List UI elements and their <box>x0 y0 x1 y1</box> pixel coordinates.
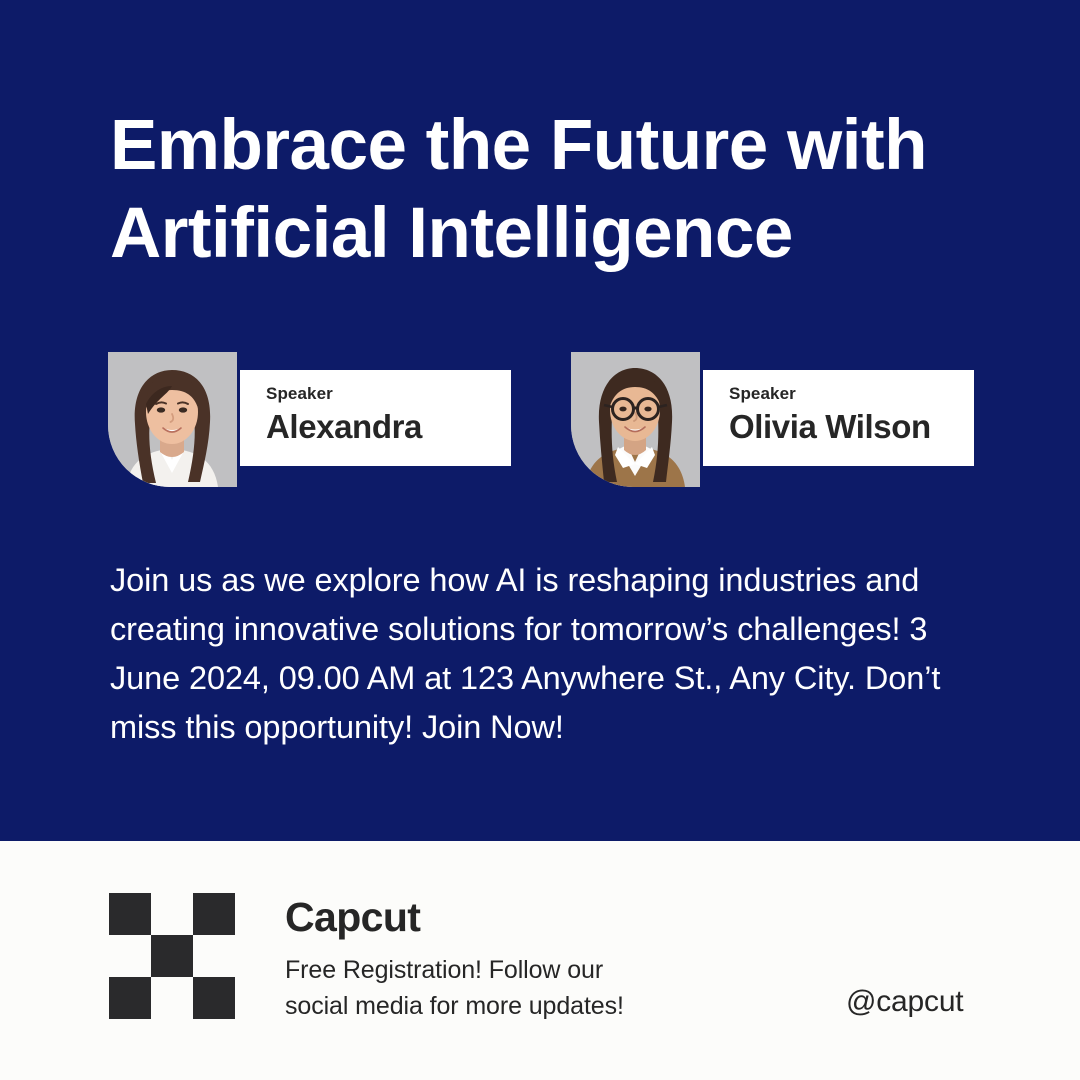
logo-cell <box>151 935 193 977</box>
event-poster: Embrace the Future with Artificial Intel… <box>0 0 1080 1080</box>
logo-cell <box>109 893 151 935</box>
brand-block: Capcut Free Registration! Follow our soc… <box>285 893 755 1024</box>
speaker-role-label: Speaker <box>266 384 511 404</box>
speaker-list: Speaker Alexandra <box>108 352 988 487</box>
speaker-card-alexandra[interactable]: Speaker Alexandra <box>108 352 511 487</box>
brand-name: Capcut <box>285 893 755 941</box>
page-title: Embrace the Future with Artificial Intel… <box>110 102 1010 278</box>
logo-cell <box>193 977 235 1019</box>
speaker-name: Alexandra <box>266 407 511 447</box>
event-description: Join us as we explore how AI is reshapin… <box>110 556 990 752</box>
speaker-role-label: Speaker <box>729 384 974 404</box>
speaker-name: Olivia Wilson <box>729 407 974 447</box>
logo-cell <box>109 977 151 1019</box>
logo-cell <box>151 977 193 1019</box>
logo-cell <box>193 935 235 977</box>
logo-cell <box>151 893 193 935</box>
logo-cell <box>193 893 235 935</box>
social-handle[interactable]: @capcut <box>846 985 963 1019</box>
speaker-name-card: Speaker Alexandra <box>240 370 511 466</box>
speaker-photo-alexandra <box>108 352 237 487</box>
brand-tagline: Free Registration! Follow our social med… <box>285 952 755 1024</box>
logo-cell <box>109 935 151 977</box>
checkerboard-x-logo-icon <box>109 893 235 1019</box>
speaker-name-card: Speaker Olivia Wilson <box>703 370 974 466</box>
speaker-photo-olivia-wilson <box>571 352 700 487</box>
speaker-card-olivia-wilson[interactable]: Speaker Olivia Wilson <box>571 352 974 487</box>
